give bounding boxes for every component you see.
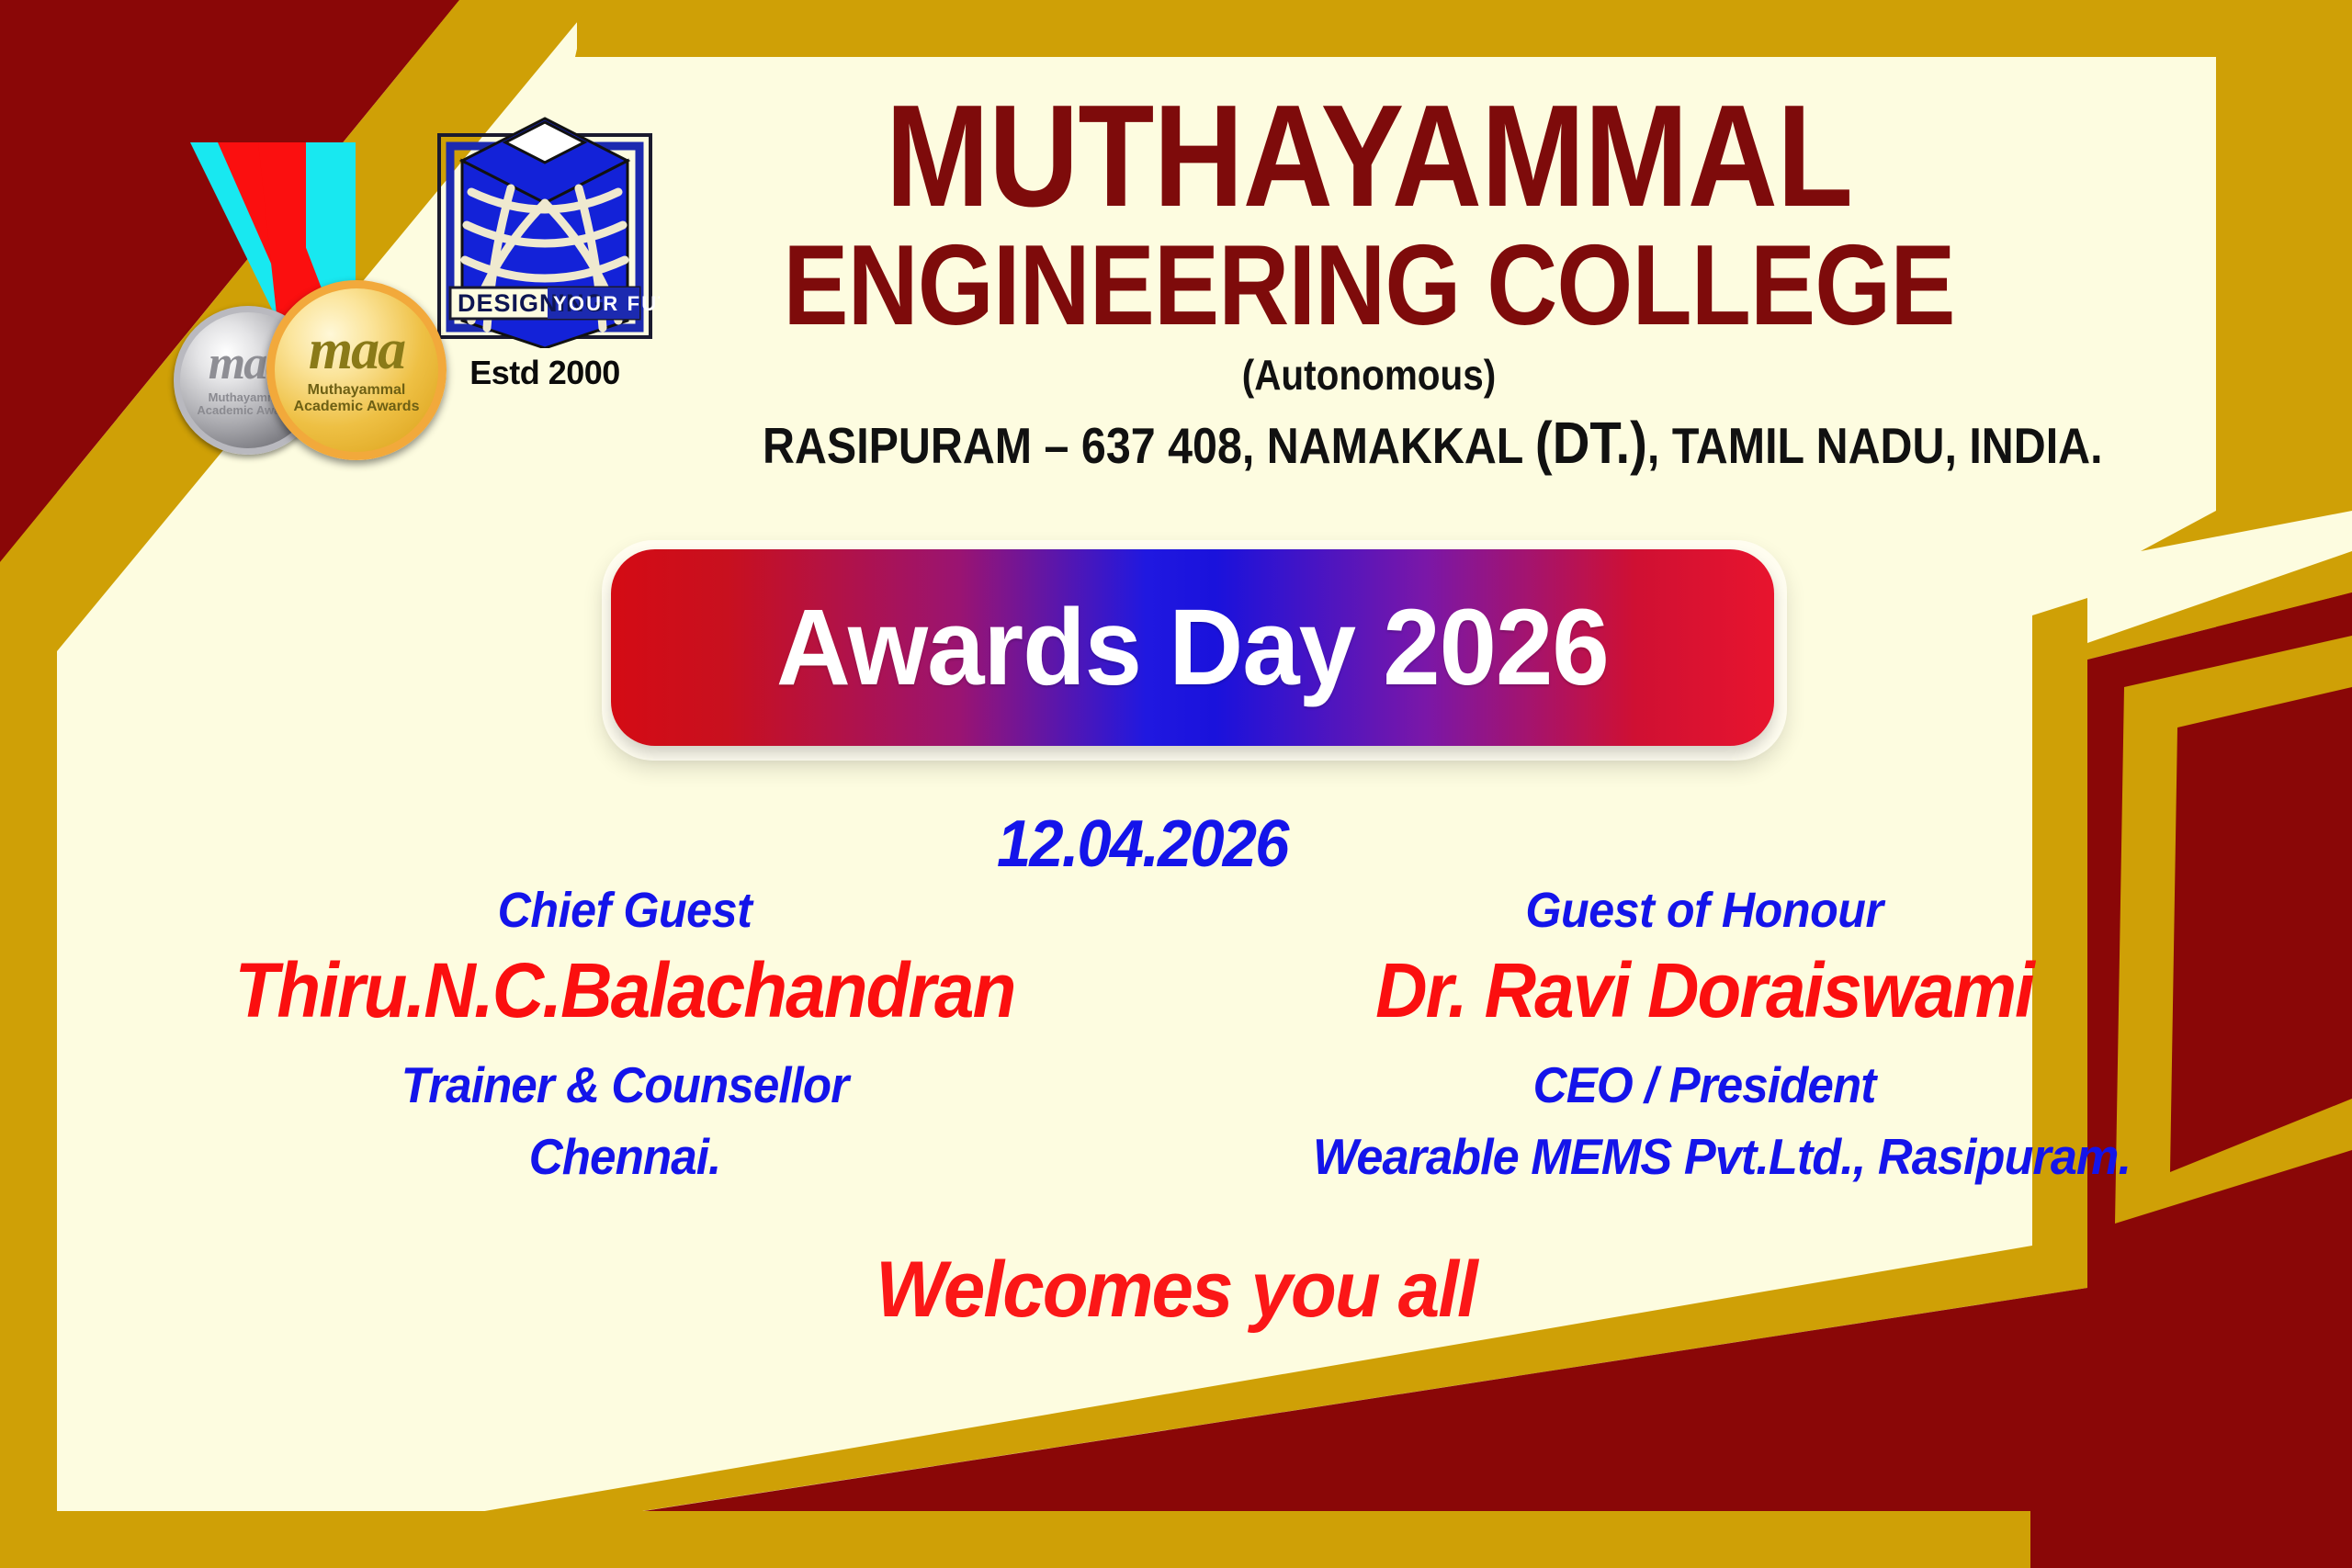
college-title-block: MUTHAYAMMAL ENGINEERING COLLEGE (Autonom… bbox=[680, 87, 2058, 477]
guest-of-honour-place: Wearable MEMS Pvt.Ltd., Rasipuram. bbox=[1238, 1127, 2207, 1186]
banner-pill: Awards Day 2026 bbox=[611, 549, 1774, 746]
gold-medal-word: maa bbox=[309, 321, 404, 380]
guest-of-honour-role: CEO / President bbox=[1230, 1055, 2178, 1114]
bottom-edge-gold bbox=[0, 1511, 2030, 1568]
right-upper-gold-taper bbox=[2141, 511, 2352, 625]
right-cream-gap bbox=[2087, 511, 2352, 643]
college-address: RASIPURAM – 637 408, NAMAKKAL (DT.), TAM… bbox=[763, 409, 1975, 477]
guest-section: Chief Guest Thiru.N.C.Balachandran Train… bbox=[0, 882, 2352, 1213]
address-dt: (DT.) bbox=[1535, 410, 1647, 476]
guest-of-honour-block: Guest of Honour Dr. Ravi Doraiswami CEO … bbox=[1194, 882, 2214, 1186]
banner-title: Awards Day 2026 bbox=[776, 585, 1609, 710]
address-pre: RASIPURAM – 637 408, NAMAKKAL bbox=[763, 417, 1535, 474]
guest-of-honour-label: Guest of Honour bbox=[1230, 882, 2178, 939]
gold-medal-sub2: Academic Awards bbox=[294, 399, 420, 415]
college-logo-icon: DESIGNING YOUR FUTURE Estd 2000 bbox=[430, 107, 660, 411]
event-date: 12.04.2026 bbox=[997, 807, 1288, 882]
guest-of-honour-name: Dr. Ravi Doraiswami bbox=[1230, 946, 2178, 1035]
bottom-gold-bar bbox=[0, 1511, 2021, 1568]
top-gold-band bbox=[577, 0, 2352, 57]
logo-estd-label: Estd 2000 bbox=[430, 354, 660, 392]
chief-guest-name: Thiru.N.C.Balachandran bbox=[189, 946, 1061, 1035]
chief-guest-label: Chief Guest bbox=[189, 882, 1061, 939]
welcome-message: Welcomes you all bbox=[59, 1245, 2293, 1336]
svg-text:YOUR FUTURE: YOUR FUTURE bbox=[553, 292, 660, 315]
invitation-poster: maa Muthayammal Academic Awards maa Muth… bbox=[0, 0, 2352, 1568]
top-edge-gold bbox=[588, 0, 2352, 57]
right-cream-notch bbox=[2021, 496, 2352, 634]
college-name-line2: ENGINEERING COLLEGE bbox=[776, 229, 1962, 343]
gold-medal-sub1: Muthayammal bbox=[294, 382, 420, 399]
address-post: , TAMIL NADU, INDIA. bbox=[1647, 417, 2103, 474]
gold-medal: maa Muthayammal Academic Awards bbox=[266, 280, 447, 460]
poster-header: maa Muthayammal Academic Awards maa Muth… bbox=[0, 87, 2352, 473]
college-name-line1: MUTHAYAMMAL bbox=[776, 87, 1962, 227]
awards-day-banner: Awards Day 2026 bbox=[602, 540, 1787, 761]
academic-awards-medals: maa Muthayammal Academic Awards maa Muth… bbox=[170, 142, 455, 446]
chief-guest-role: Trainer & Counsellor bbox=[189, 1055, 1061, 1114]
chief-guest-block: Chief Guest Thiru.N.C.Balachandran Train… bbox=[156, 882, 1093, 1186]
autonomous-label: (Autonomous) bbox=[763, 350, 1975, 400]
chief-guest-place: Chennai. bbox=[189, 1127, 1061, 1186]
